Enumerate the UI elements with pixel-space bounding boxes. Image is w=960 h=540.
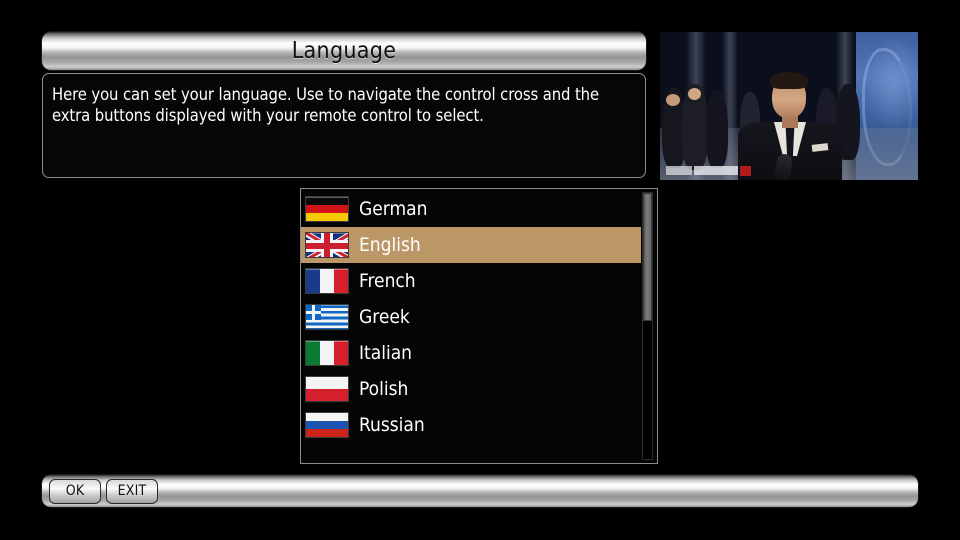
scrollbar-thumb[interactable]	[643, 193, 652, 321]
flag-greece-icon	[305, 304, 349, 330]
list-item-greek[interactable]: Greek	[301, 299, 641, 335]
description-box: Here you can set your language. Use to n…	[42, 73, 646, 178]
news-logo-part	[740, 166, 751, 176]
list-scrollbar[interactable]	[642, 192, 653, 460]
flag-france-icon	[305, 268, 349, 294]
list-item-label: Polish	[359, 380, 408, 399]
list-item-german[interactable]: German	[301, 191, 641, 227]
list-item-polish[interactable]: Polish	[301, 371, 641, 407]
flag-united-kingdom-icon	[305, 232, 349, 258]
tv-osd-screen: Language Here you can set your language.…	[0, 0, 960, 540]
news-logo-part	[666, 166, 692, 175]
flag-russia-icon	[305, 412, 349, 438]
description-text: Here you can set your language. Use to n…	[52, 84, 635, 126]
list-item-french[interactable]: French	[301, 263, 641, 299]
video-preview[interactable]	[660, 32, 918, 180]
flag-germany-icon	[305, 196, 349, 222]
video-crowd-face	[688, 88, 701, 100]
list-item-english[interactable]: English	[301, 227, 641, 263]
list-item-italian[interactable]: Italian	[301, 335, 641, 371]
news-logo-overlay	[666, 165, 762, 176]
list-item-label: English	[359, 236, 421, 255]
list-item-russian[interactable]: Russian	[301, 407, 641, 443]
flag-poland-icon	[305, 376, 349, 402]
list-item-label: German	[359, 200, 427, 219]
list-item-label: Greek	[359, 308, 410, 327]
list-item-label: Russian	[359, 416, 425, 435]
title-bar: Language	[42, 32, 646, 70]
exit-button[interactable]: EXIT	[106, 479, 158, 504]
list-item-label: Italian	[359, 344, 412, 363]
flag-italy-icon	[305, 340, 349, 366]
ok-button[interactable]: OK	[49, 479, 101, 504]
news-logo-part	[694, 166, 738, 175]
video-reporter-hair	[770, 72, 808, 89]
page-title: Language	[292, 40, 397, 63]
video-crowd-figure	[706, 90, 728, 168]
list-item-label: French	[359, 272, 416, 291]
video-crowd-face	[666, 94, 680, 106]
footer-bar: OK EXIT	[42, 475, 918, 507]
language-list-panel[interactable]: German English French Greek	[300, 188, 658, 464]
language-list: German English French Greek	[301, 191, 641, 443]
